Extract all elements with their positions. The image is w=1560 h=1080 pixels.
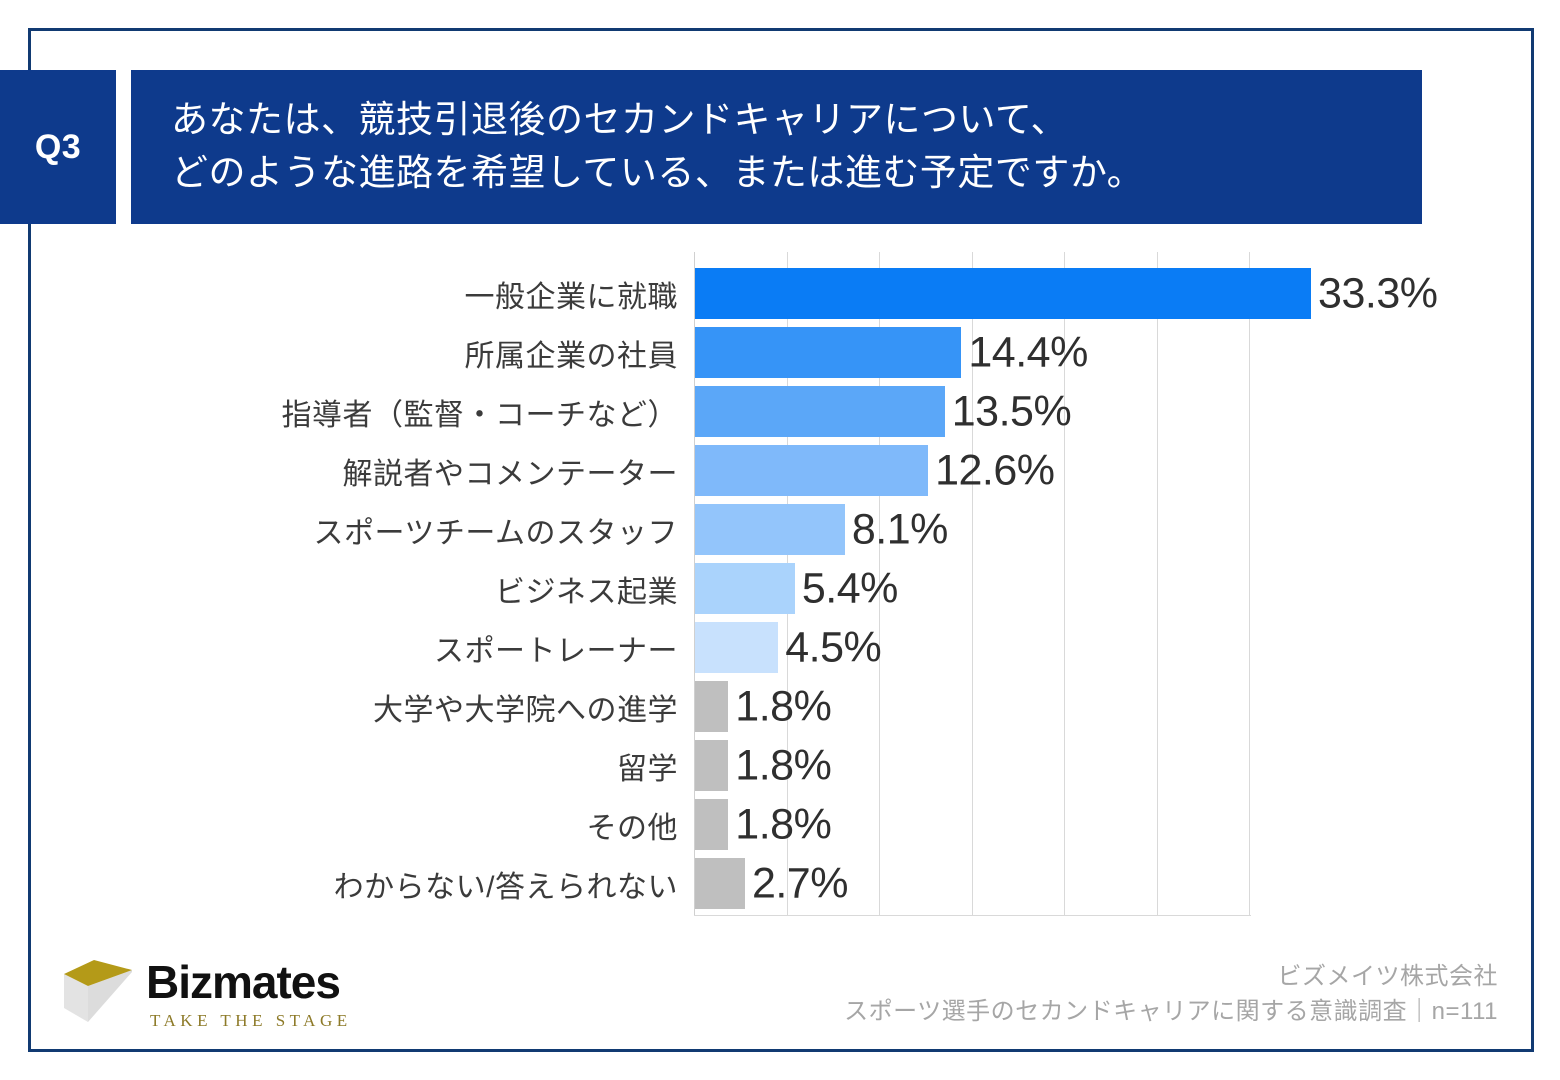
bar-category-label: 解説者やコメンテーター [343,449,679,493]
bar-row: スポーツチームのスタッフ8.1% [0,500,1560,559]
bar-value-label: 4.5% [785,623,881,672]
footer-survey-name: スポーツ選手のセカンドキャリアに関する意識調査｜n=111 [844,995,1498,1030]
bar-row: 大学や大学院への進学1.8% [0,677,1560,736]
bar[interactable] [695,799,728,850]
bizmates-logo: Bizmates TAKE THE STAGE [62,955,352,1045]
bizmates-cube-icon [62,960,134,1036]
bar-row: スポートレーナー4.5% [0,618,1560,677]
bar-chart: 一般企業に就職33.3%所属企業の社員14.4%指導者（監督・コーチなど）13.… [0,252,1560,962]
bar-value-label: 8.1% [852,505,948,554]
bar-category-label: 大学や大学院への進学 [373,685,678,729]
bar-row: 留学1.8% [0,736,1560,795]
bar[interactable] [695,268,1311,319]
bar-row: 一般企業に就職33.3% [0,264,1560,323]
bar-category-label: スポーツチームのスタッフ [314,508,679,552]
bar[interactable] [695,445,928,496]
bar-row: わからない/答えられない2.7% [0,854,1560,913]
bizmates-tagline: TAKE THE STAGE [150,1011,352,1031]
bar[interactable] [695,563,795,614]
bar-row: 解説者やコメンテーター12.6% [0,441,1560,500]
bar-value-label: 14.4% [968,328,1087,377]
bar[interactable] [695,504,845,555]
bar-category-label: 留学 [617,744,678,788]
bar[interactable] [695,740,728,791]
bar-category-label: 指導者（監督・コーチなど） [282,390,679,434]
bar-category-label: 所属企業の社員 [465,331,679,375]
bar-row: ビジネス起業5.4% [0,559,1560,618]
bar-value-label: 33.3% [1318,269,1437,318]
bar-value-label: 5.4% [802,564,898,613]
bar-value-label: 1.8% [735,741,831,790]
bar-category-label: わからない/答えられない [334,862,678,906]
question-text-line-2: どのような進路を希望している、または進む予定ですか。 [171,147,1422,200]
bar[interactable] [695,858,745,909]
bar-category-label: ビジネス起業 [495,567,678,611]
footer-company-name: ビズメイツ株式会社 [844,960,1498,995]
bar-category-label: その他 [587,803,679,847]
question-number-label: Q3 [35,128,81,167]
bar-value-label: 1.8% [735,800,831,849]
bar-row: その他1.8% [0,795,1560,854]
bar[interactable] [695,327,961,378]
bar[interactable] [695,622,778,673]
bar-row: 所属企業の社員14.4% [0,323,1560,382]
question-text-line-1: あなたは、競技引退後のセカンドキャリアについて、 [171,94,1422,147]
bar-row: 指導者（監督・コーチなど）13.5% [0,382,1560,441]
bar[interactable] [695,386,945,437]
bizmates-wordmark: Bizmates [146,955,340,1009]
footer-credits: ビズメイツ株式会社 スポーツ選手のセカンドキャリアに関する意識調査｜n=111 [844,960,1498,1030]
bar-category-label: スポートレーナー [434,626,678,670]
bar-category-label: 一般企業に就職 [465,272,679,316]
question-title-bar: あなたは、競技引退後のセカンドキャリアについて、 どのような進路を希望している、… [131,70,1422,224]
question-number-badge: Q3 [0,70,116,224]
bar-value-label: 13.5% [952,387,1071,436]
bar-value-label: 1.8% [735,682,831,731]
bar[interactable] [695,681,728,732]
bar-value-label: 2.7% [752,859,848,908]
chart-x-axis [694,915,1251,916]
bar-value-label: 12.6% [935,446,1054,495]
